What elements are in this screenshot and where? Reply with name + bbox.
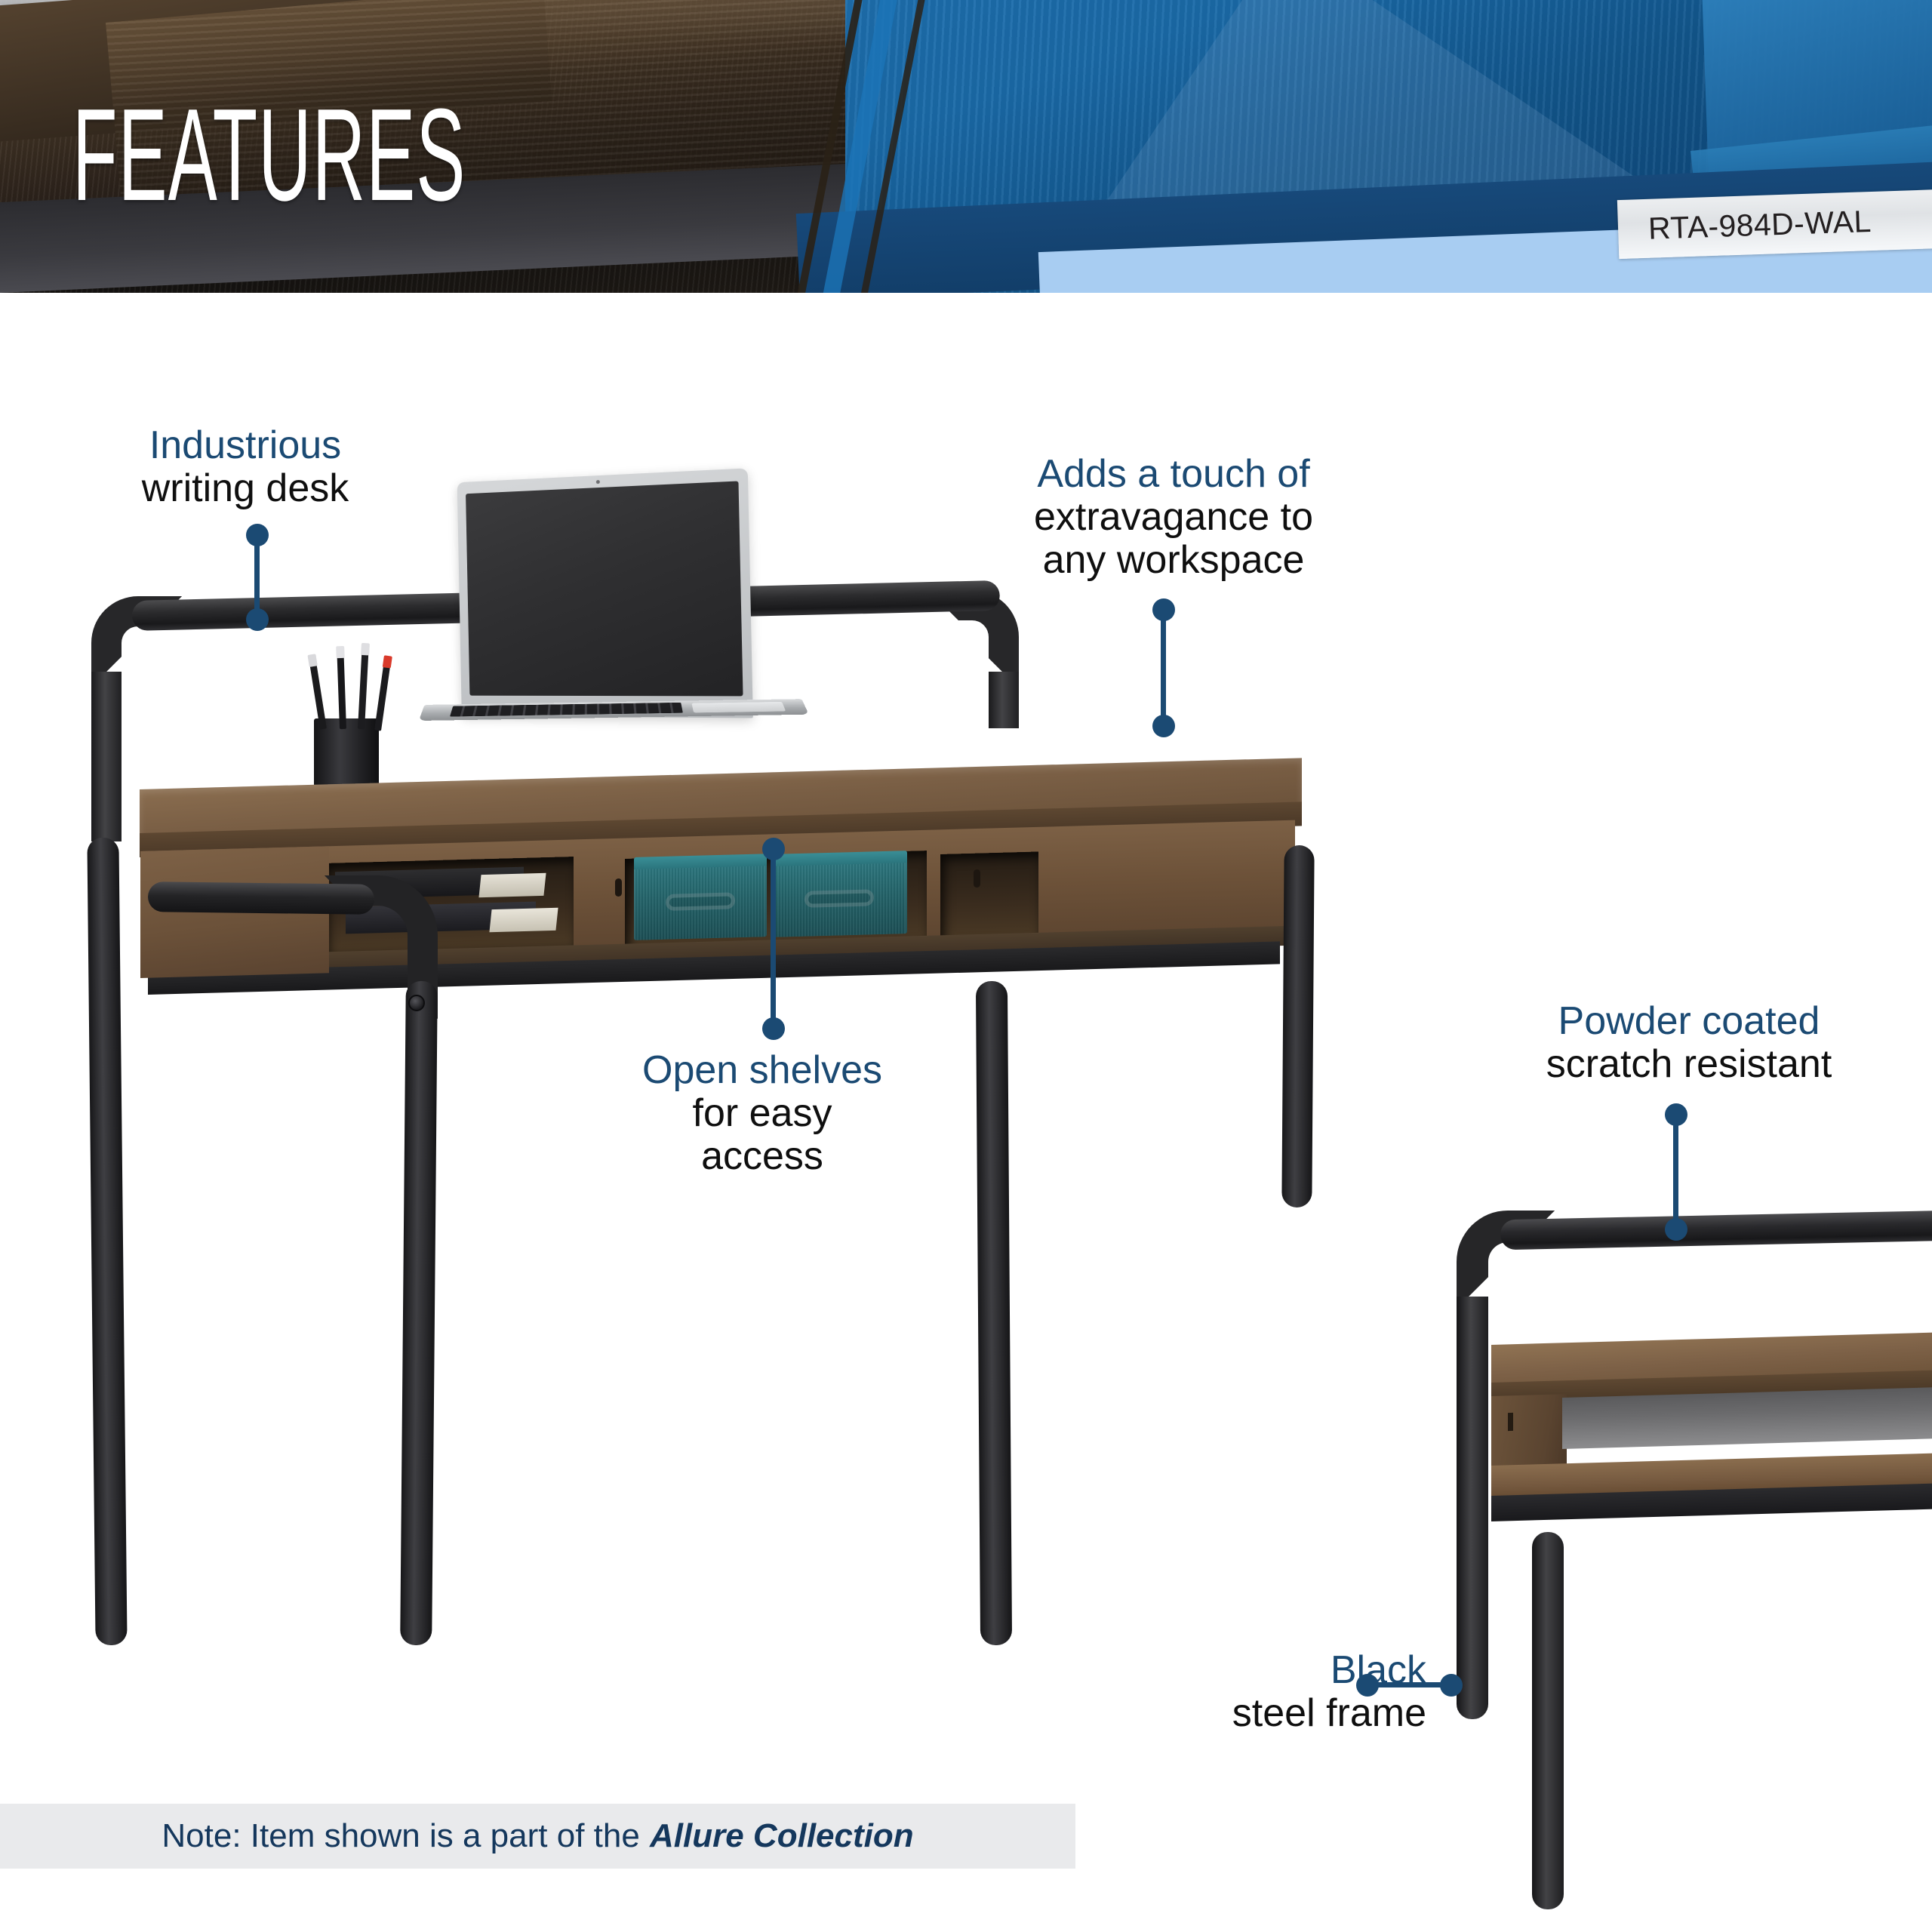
pencil-tip-1	[307, 654, 317, 667]
callout-line-2: writing desk	[83, 467, 408, 510]
detail-peg-slot	[1508, 1413, 1513, 1431]
pencil-red	[374, 666, 390, 731]
detail-leg	[1532, 1532, 1564, 1909]
callout-industrious-writing-desk: Industrious writing desk	[83, 424, 408, 510]
leader-dot-powder-target	[1665, 1218, 1687, 1241]
pencil-1	[310, 664, 327, 729]
storage-bin-left	[634, 857, 767, 940]
rail-post-left	[91, 672, 122, 841]
leader-line-adds	[1161, 606, 1166, 721]
callout-black-steel-frame: Black steel frame	[1132, 1649, 1426, 1735]
leg-front-right	[976, 981, 1012, 1645]
callout-powder-coated: Powder coated scratch resistant	[1500, 1000, 1878, 1086]
callout-line-2: scratch resistant	[1500, 1043, 1878, 1086]
pencil-tip-3	[361, 643, 370, 656]
header-banner: FEATURES RTA-984D-WAL	[0, 0, 1932, 293]
callout-line-1: Adds a touch of	[992, 453, 1355, 496]
bin-lip-left	[634, 854, 767, 869]
sku-text: RTA-984D-WAL	[1617, 204, 1872, 248]
detail-rail-tube	[1500, 1211, 1932, 1251]
bin-lip-right	[771, 851, 907, 866]
leader-line-powder	[1673, 1111, 1678, 1224]
detail-shelf-cavity	[1562, 1387, 1932, 1449]
pencil-tip-2	[336, 646, 345, 658]
callout-line-1: Industrious	[83, 424, 408, 467]
laptop-screen	[466, 481, 743, 696]
side-tube-horizontal	[148, 881, 374, 915]
footer-note-prefix: Note: Item shown is a part of the	[162, 1817, 639, 1855]
page-title: FEATURES	[72, 89, 466, 220]
leader-dot-black-target	[1440, 1674, 1463, 1697]
pencil-tip-red	[383, 655, 392, 668]
callout-line-1: Open shelves	[611, 1049, 913, 1092]
callout-open-shelves: Open shelves for easy access	[611, 1049, 913, 1179]
detail-rail-post	[1457, 1297, 1488, 1719]
leg-back-right	[1281, 845, 1314, 1207]
laptop-lid: MacBook Pro	[457, 468, 753, 718]
bin-handle-right	[804, 889, 874, 907]
callout-line-1: Powder coated	[1500, 1000, 1878, 1043]
leader-dot-industrious-target	[246, 608, 269, 631]
leg-screw	[408, 995, 425, 1011]
pencil-2	[337, 657, 346, 729]
rail-post-right	[989, 672, 1019, 728]
footer-note-collection: Allure Collection	[650, 1817, 914, 1855]
leader-line-black	[1367, 1682, 1451, 1687]
laptop-camera	[595, 480, 599, 484]
shelf-peg-right	[974, 869, 980, 888]
footer-note: Note: Item shown is a part of the Allure…	[0, 1804, 1075, 1869]
callout-adds-extravagance: Adds a touch of extravagance to any work…	[992, 453, 1355, 583]
leader-line-industrious	[254, 531, 260, 620]
bin-handle-left	[666, 892, 735, 910]
callout-line-3: any workspace	[992, 539, 1355, 582]
callout-line-3: access	[611, 1135, 913, 1178]
laptop-keyboard	[450, 703, 683, 717]
storage-bin-right	[771, 854, 907, 937]
callout-line-2: for easy	[611, 1092, 913, 1135]
laptop-trackpad	[691, 702, 786, 713]
leader-dot-shelves-text	[762, 1017, 785, 1040]
callout-line-2: steel frame	[1132, 1692, 1426, 1735]
leg-front-left	[87, 838, 127, 1645]
shelf-peg-left	[615, 878, 622, 897]
detail-product-photo	[1419, 1207, 1932, 1811]
leader-dot-adds-target	[1152, 715, 1175, 737]
cubby-far-right	[940, 851, 1038, 940]
book-bottom-pages	[489, 908, 558, 932]
book-top-pages	[478, 873, 546, 897]
sku-badge: RTA-984D-WAL	[1617, 189, 1932, 259]
leader-line-shelves	[771, 845, 776, 1020]
callout-line-2: extravagance to	[992, 496, 1355, 539]
leg-mid-left	[400, 981, 438, 1645]
